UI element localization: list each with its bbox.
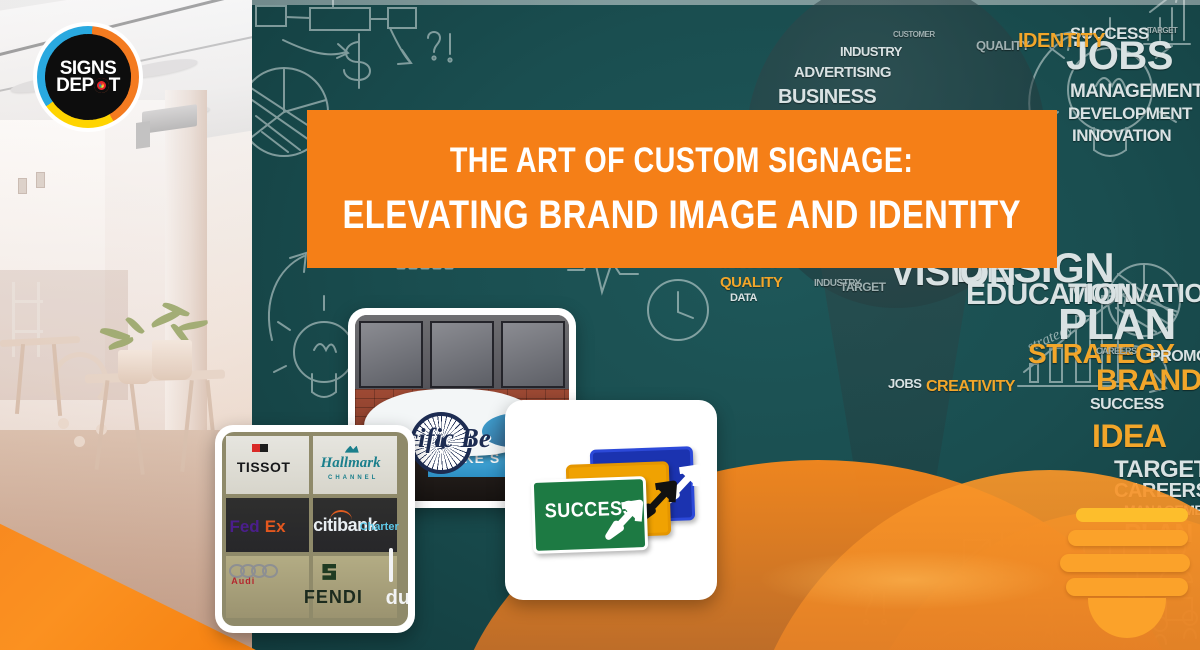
- headline-banner: THE ART OF CUSTOM SIGNAGE: ELEVATING BRA…: [307, 110, 1057, 268]
- brand-label-fedex-ex: Ex: [265, 517, 286, 537]
- word-cloud-word: BRAND: [1096, 364, 1200, 398]
- arrow-white-icon: [602, 495, 658, 543]
- logo-text-depot: DEPT: [56, 77, 120, 94]
- logo-text-t: T: [109, 75, 120, 96]
- bulb-filament-bar-3: [1066, 578, 1188, 596]
- bulb-filament-bar-1: [1068, 530, 1188, 546]
- brand-label-fendi: FENDI: [304, 587, 363, 608]
- word-cloud-word: TARGET: [840, 280, 885, 294]
- success-signs-image: SUCCESS: [512, 407, 710, 593]
- brand-label-hallmark-channel: CHANNEL: [328, 475, 378, 481]
- du-bar-icon: [389, 548, 393, 582]
- word-cloud-word: INDUSTRY: [840, 44, 902, 59]
- photo-card-success-signs[interactable]: SUCCESS: [505, 400, 717, 600]
- word-cloud-word: CAREERS: [1096, 346, 1137, 356]
- word-cloud-word: BUSINESS: [778, 86, 876, 109]
- brand-label-du: du: [386, 587, 408, 610]
- word-cloud-word: IDEA: [1092, 418, 1166, 455]
- word-cloud-word: JOBS: [888, 376, 921, 391]
- window-3: [501, 321, 565, 388]
- word-cloud-word: EDUCATION: [966, 278, 1138, 312]
- word-cloud-word: CREATIVITY: [926, 378, 1015, 396]
- photo-card-brand-signs[interactable]: TISSOT Hallmark CHANNEL Fed Ex citibank …: [215, 425, 415, 633]
- logo-spiral-o-icon: [94, 78, 109, 93]
- fendi-monogram-icon: [322, 564, 336, 580]
- orange-glow: [758, 550, 1058, 610]
- brand-wall-image: TISSOT Hallmark CHANNEL Fed Ex citibank …: [222, 432, 408, 626]
- word-cloud-word: CUSTOMER: [893, 30, 935, 39]
- signs-depot-logo[interactable]: SIGNS DEPT: [33, 22, 143, 132]
- word-cloud-word: IDENTITY: [1018, 30, 1105, 53]
- word-cloud-word: MANAGEMENT: [1070, 81, 1200, 103]
- word-cloud-lightbulb: SUCCESSTARGETJOBSMANAGEMENTDEVELOPMENTIN…: [718, 0, 1078, 538]
- word-cloud-word: ADVERTISING: [794, 64, 891, 81]
- street-sign-green: SUCCESS: [531, 476, 648, 554]
- word-cloud-word: INNOVATION: [1072, 126, 1171, 146]
- brand-label-tissot: TISSOT: [237, 459, 291, 475]
- banner-canvas: strategy manager SUCCESSTARGETJOBSMANAGE…: [0, 0, 1200, 650]
- window-2: [430, 321, 494, 388]
- brand-label-charter: Charter: [360, 521, 399, 533]
- headline-line-1: THE ART OF CUSTOM SIGNAGE:: [450, 143, 913, 178]
- brand-label-audi: Audi: [231, 576, 255, 586]
- bulb-filament-bar-2: [1060, 554, 1190, 572]
- word-cloud-word: QUALITY: [720, 274, 782, 291]
- brand-label-fedex-fed: Fed: [229, 517, 259, 537]
- word-cloud-word: DATA: [730, 292, 757, 304]
- headline-line-2: ELEVATING BRAND IMAGE AND IDENTITY: [343, 195, 1021, 235]
- logo-text-dep: DEP: [56, 75, 94, 96]
- bulb-filament-top: [1076, 508, 1188, 522]
- word-cloud-word: DEVELOPMENT: [1068, 104, 1192, 124]
- window-1: [359, 321, 423, 388]
- tissot-mark-icon: [252, 444, 268, 452]
- logo-wordmark: SIGNS DEPT: [33, 22, 143, 132]
- word-cloud-word: SUCCESS: [1090, 396, 1164, 414]
- brand-label-hallmark: Hallmark: [321, 455, 381, 472]
